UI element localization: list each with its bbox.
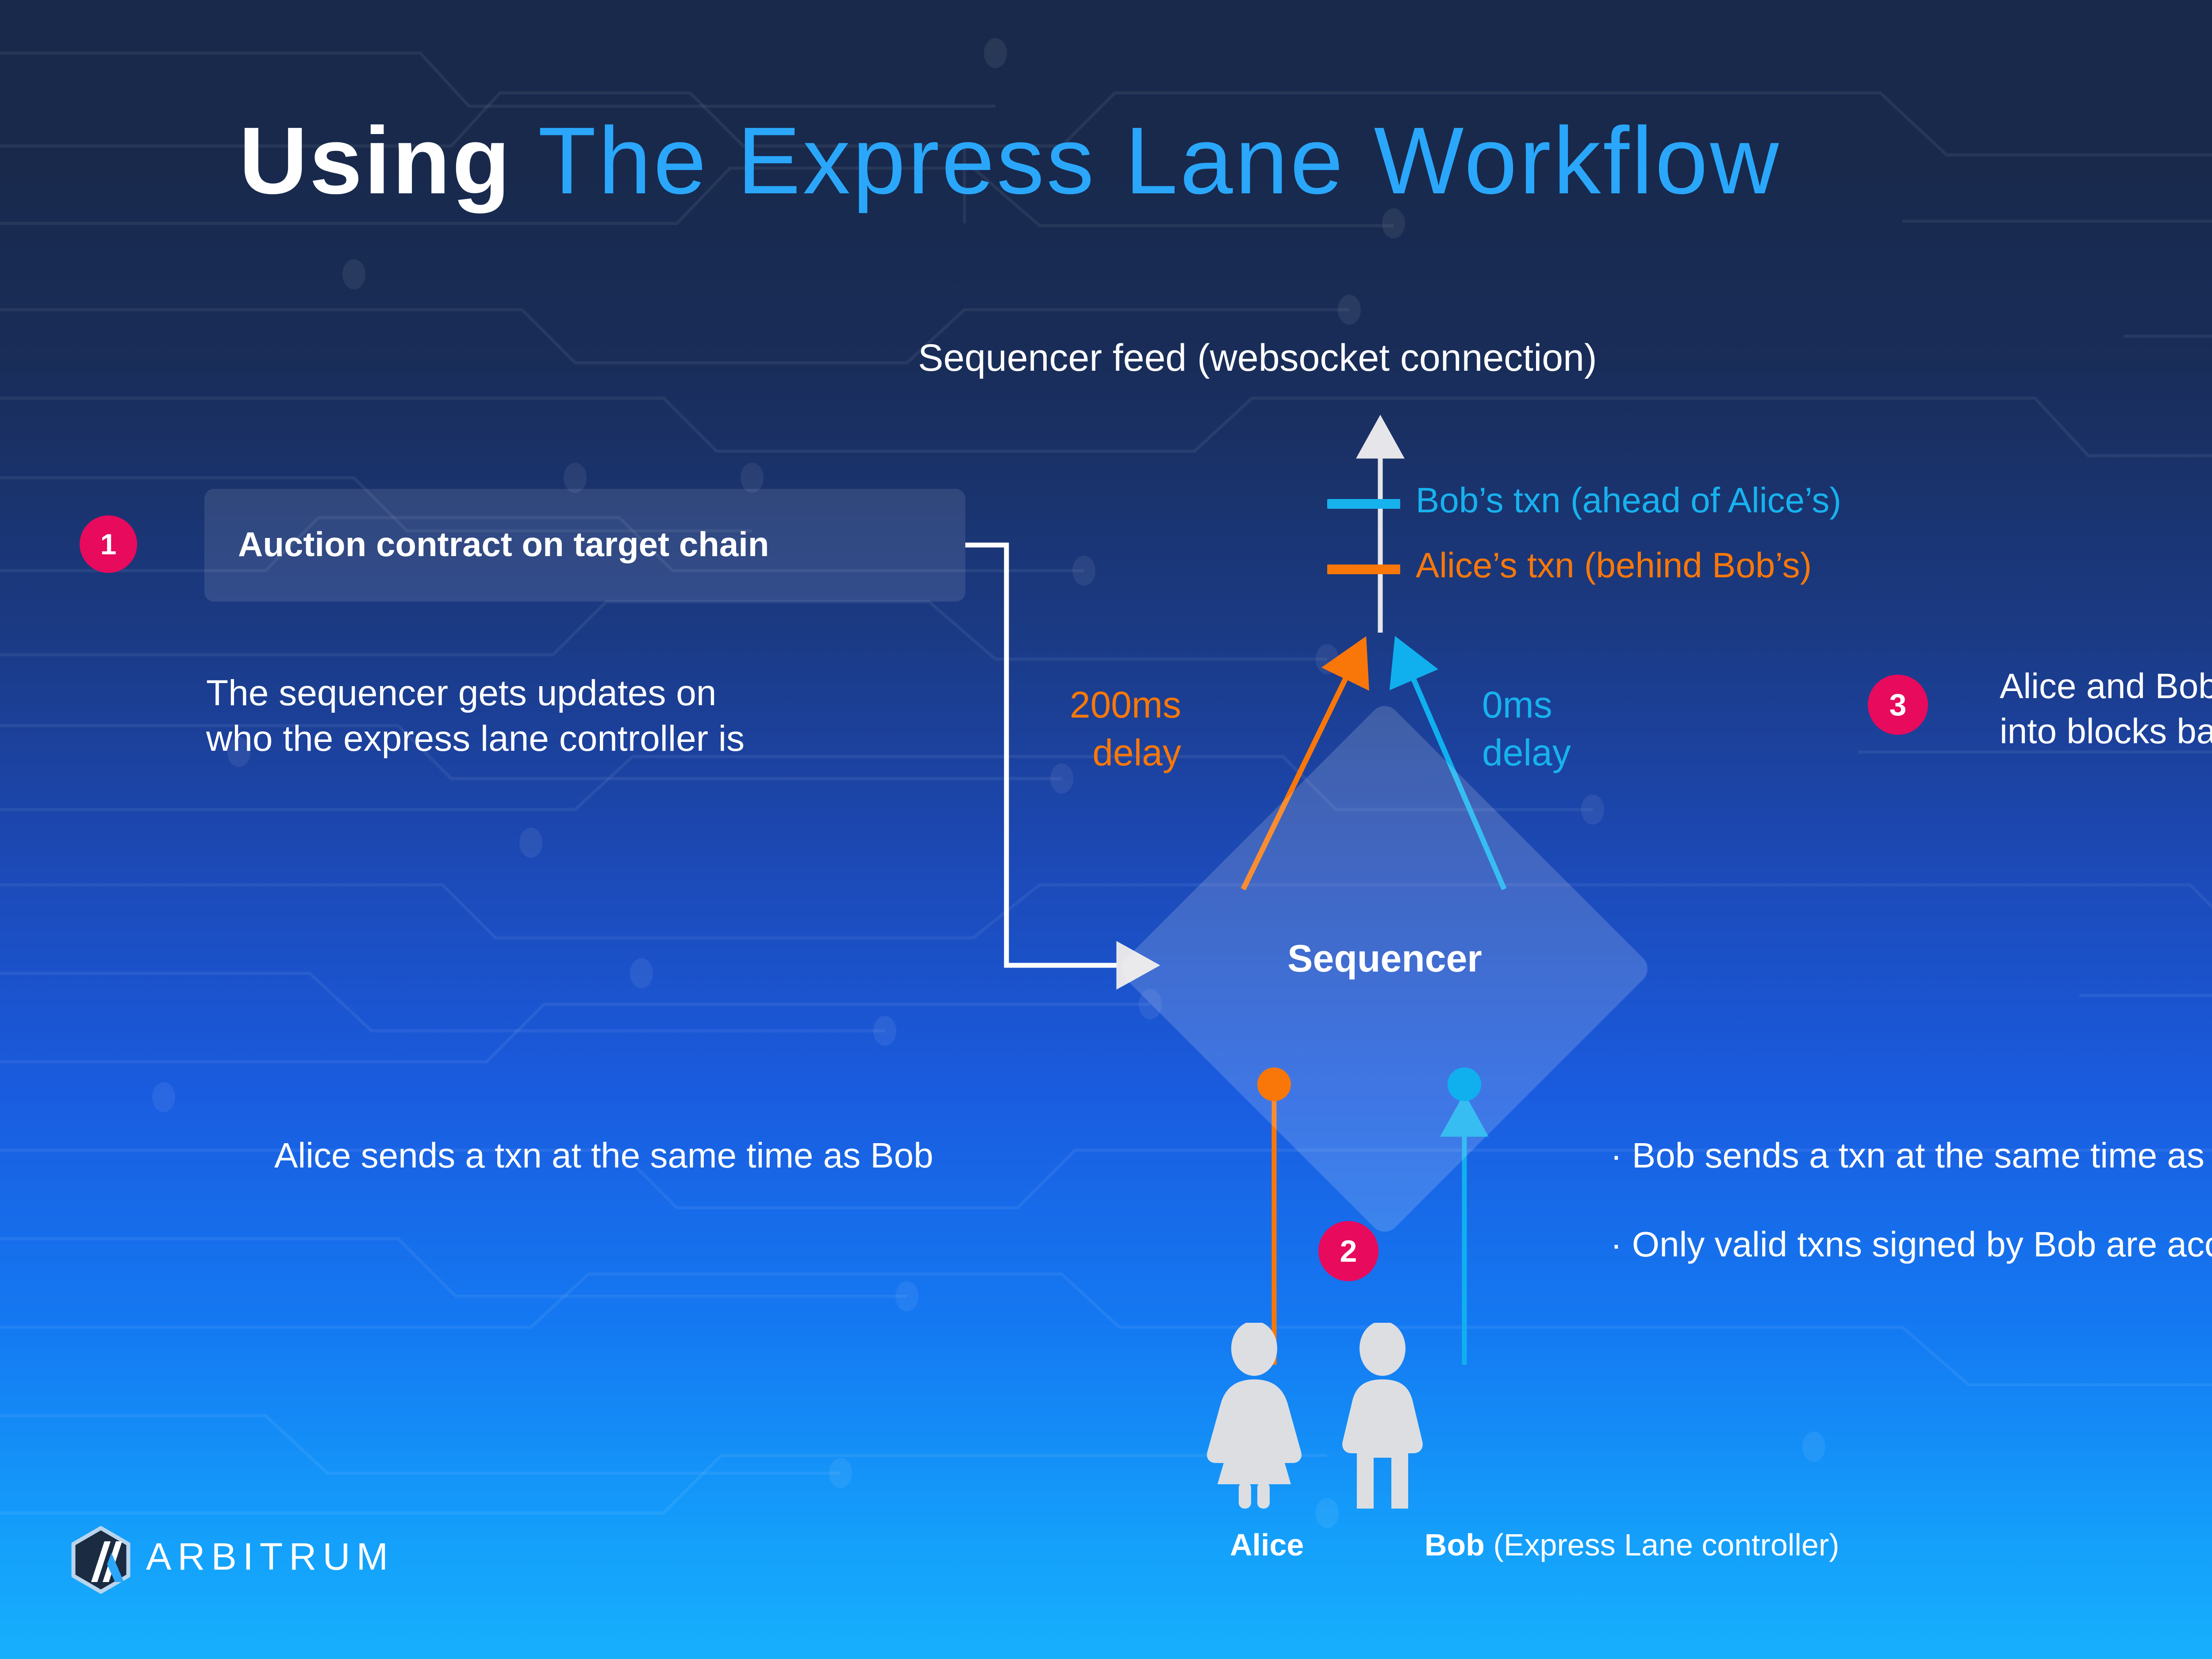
actor-figures	[1186, 1323, 1495, 1509]
bob-name-label: Bob (Express Lane controller)	[1425, 1527, 1839, 1563]
auction-contract-label: Auction contract on target chain	[238, 524, 769, 565]
alice-figure	[1207, 1323, 1302, 1509]
sequencer-label: Sequencer	[1194, 937, 1575, 981]
delay-label-bob: 0ms delay	[1482, 681, 1694, 776]
alice-caption: Alice sends a txn at the same time as Bo…	[274, 1135, 933, 1176]
bob-name: Bob	[1425, 1528, 1485, 1562]
arbitrum-wordmark: ARBITRUM	[146, 1535, 394, 1579]
legend-label-alice: Alice’s txn (behind Bob’s)	[1416, 545, 1812, 586]
step-1-body: The sequencer gets updates on who the ex…	[206, 670, 745, 762]
bob-role: (Express Lane controller)	[1485, 1528, 1839, 1562]
legend-swatch-bob	[1327, 499, 1400, 509]
legend-swatch-alice	[1327, 565, 1400, 574]
step-3-body: Alice and Bob's txns get ordered into bl…	[2000, 664, 2212, 753]
bob-caption-line-1: · Bob sends a txn at the same time as Al…	[1610, 1135, 2212, 1176]
bob-figure	[1342, 1323, 1423, 1509]
step-badge-2: 2	[1318, 1221, 1379, 1281]
alice-txn-dot	[1257, 1068, 1291, 1101]
bob-caption-line-2: · Only valid txns signed by Bob are acce…	[1610, 1224, 2212, 1265]
legend-label-bob: Bob’s txn (ahead of Alice’s)	[1416, 480, 1841, 521]
delay-label-alice: 200ms delay	[951, 681, 1181, 776]
bob-txn-dot	[1448, 1068, 1481, 1101]
step-badge-3: 3	[1868, 675, 1928, 735]
diagram-connectors	[0, 0, 2212, 1659]
infographic-canvas: Using The Express Lane Workflow Sequence…	[0, 0, 2212, 1659]
step-badge-1: 1	[80, 515, 137, 573]
alice-name-label: Alice	[1230, 1527, 1304, 1563]
